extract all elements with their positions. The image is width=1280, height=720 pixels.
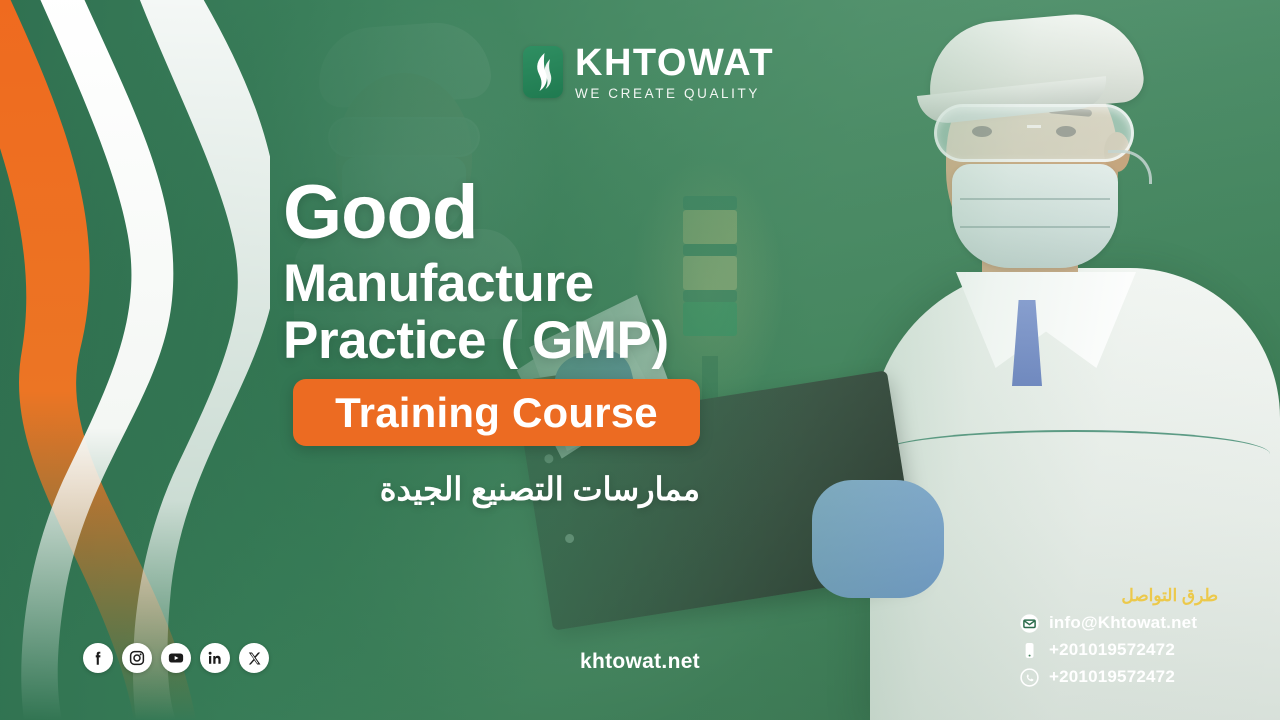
brand-logo[interactable]: KHTOWAT WE CREATE QUALITY bbox=[523, 44, 774, 101]
contact-whatsapp-value: +201019572472 bbox=[1049, 667, 1175, 687]
contact-row-whatsapp[interactable]: +201019572472 bbox=[1018, 666, 1218, 688]
contact-panel: طرق التواصل info@Khtowat.net bbox=[1018, 586, 1218, 693]
headline-block: Good Manufacture Practice ( GMP) bbox=[283, 178, 669, 369]
promo-poster: KHTOWAT WE CREATE QUALITY Good Manufactu… bbox=[0, 0, 1280, 720]
training-course-label: Training Course bbox=[335, 389, 658, 437]
headline-line-3: Practice ( GMP) bbox=[283, 313, 669, 370]
contact-row-email[interactable]: info@Khtowat.net bbox=[1018, 612, 1218, 634]
headline-line-1: Good bbox=[283, 178, 669, 248]
mobile-phone-icon bbox=[1018, 639, 1040, 661]
logo-name: KHTOWAT bbox=[575, 44, 774, 82]
training-course-badge[interactable]: Training Course bbox=[293, 379, 700, 446]
headline-line-2: Manufacture bbox=[283, 256, 669, 313]
flame-swirl-icon bbox=[523, 46, 563, 98]
logo-tagline: WE CREATE QUALITY bbox=[575, 87, 774, 101]
contact-row-phone[interactable]: +201019572472 bbox=[1018, 639, 1218, 661]
whatsapp-icon bbox=[1018, 666, 1040, 688]
arabic-subtitle: ممارسات التصنيع الجيدة bbox=[283, 470, 700, 508]
contact-phone-value: +201019572472 bbox=[1049, 640, 1175, 660]
contact-panel-title: طرق التواصل bbox=[1018, 586, 1218, 606]
email-icon bbox=[1018, 612, 1040, 634]
contact-email-value: info@Khtowat.net bbox=[1049, 613, 1197, 633]
